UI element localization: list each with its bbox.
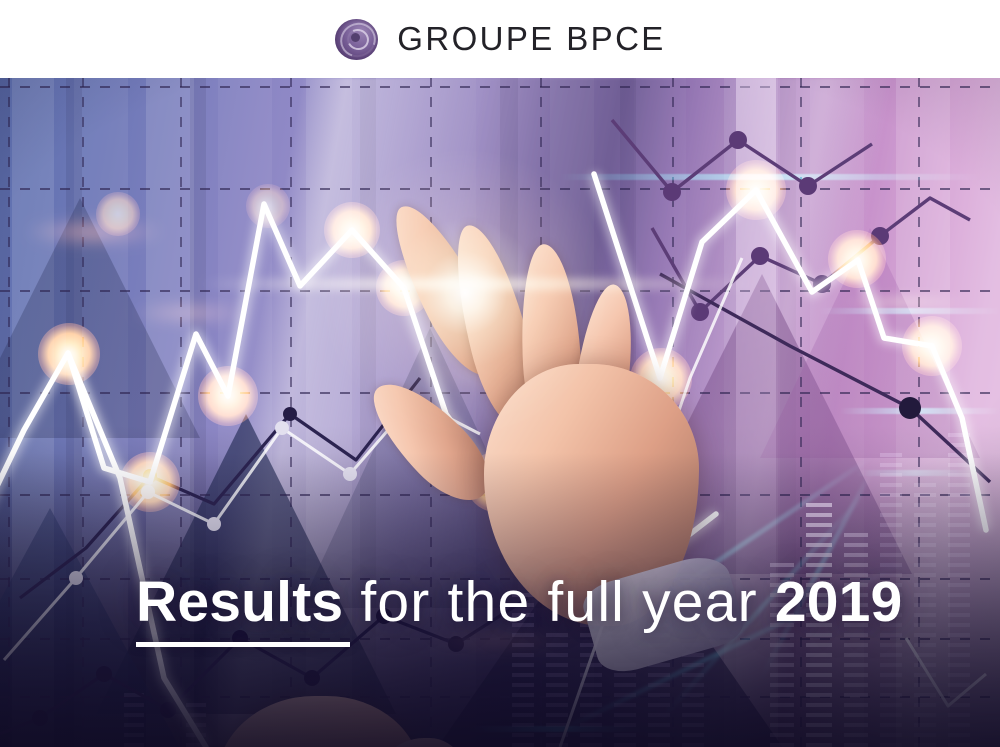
hand-reaching [392,196,722,626]
brand-wordmark: GROUPE BPCE [397,22,665,57]
title-bold-lead: Results [136,570,343,634]
lens-flare-streak [200,278,760,290]
hero-warm-smear [130,302,250,324]
hero-warm-smear [24,218,164,246]
bpce-swirl-logo-mark [334,17,379,62]
title-underline-rule [136,642,350,647]
title-light-middle: for the full year [343,570,775,634]
slide-canvas: GROUPE BPCE [0,0,1000,747]
hero-warm-smear [844,294,964,310]
brand-logo-lockup: GROUPE BPCE [0,0,1000,78]
title-bold-year: 2019 [775,570,903,634]
logo-core [351,33,360,42]
slide-header: GROUPE BPCE [0,0,1000,78]
hand-palm-up [176,690,476,747]
palm-lower [216,696,421,747]
hero-title-block: Results for the full year 2019 [136,574,902,631]
hero-image: Results for the full year 2019 [0,78,1000,747]
page-title: Results for the full year 2019 [136,574,902,631]
